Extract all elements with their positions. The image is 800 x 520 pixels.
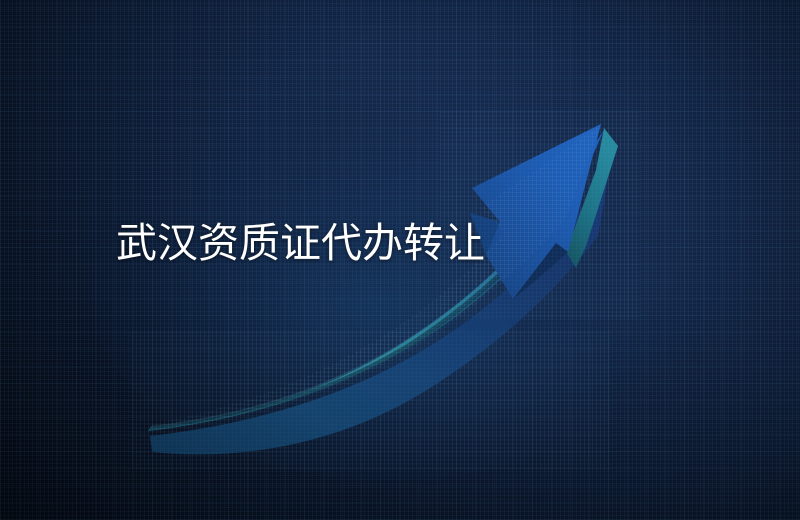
page-title: 武汉资质证代办转让 — [116, 218, 485, 268]
banner-canvas: 武汉资质证代办转让 — [0, 0, 800, 520]
